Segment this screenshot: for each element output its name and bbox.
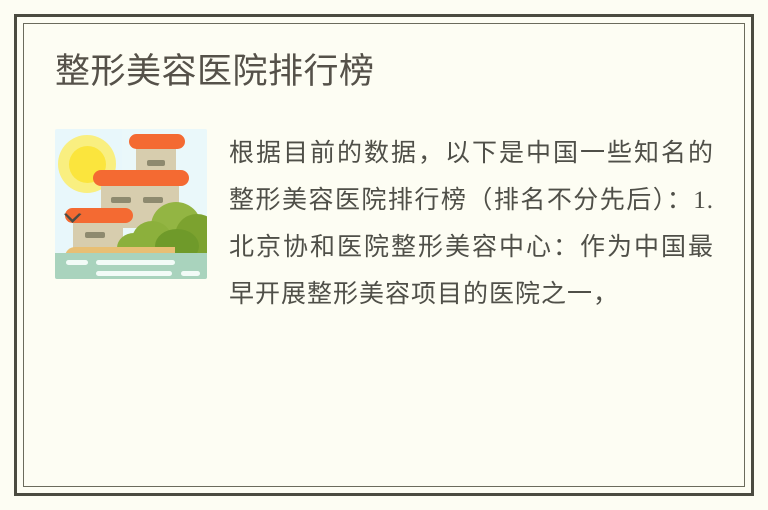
bird-icon [63, 213, 83, 225]
wave-line-2 [96, 260, 175, 265]
page-canvas: 整形美容医院排行榜 [0, 0, 768, 510]
wave-line-4 [181, 271, 200, 276]
article-content: 整形美容医院排行榜 [24, 24, 744, 486]
window-back [147, 160, 165, 166]
page-frame-outer: 整形美容医院排行榜 [14, 14, 754, 496]
roof-middle [93, 170, 189, 186]
article-body: 根据目前的数据，以下是中国一些知名的整形美容医院排行榜（排名不分先后）：1. 北… [55, 124, 714, 318]
wave-line-1 [66, 260, 88, 265]
window-front [85, 232, 105, 238]
window-middle-left [111, 197, 131, 203]
wave-line-3 [96, 271, 172, 276]
window-middle-right [143, 197, 163, 203]
roof-back [129, 134, 185, 149]
article-thumbnail [55, 129, 207, 279]
page-title: 整形美容医院排行榜 [55, 50, 714, 94]
page-frame-inner: 整形美容医院排行榜 [23, 23, 745, 487]
